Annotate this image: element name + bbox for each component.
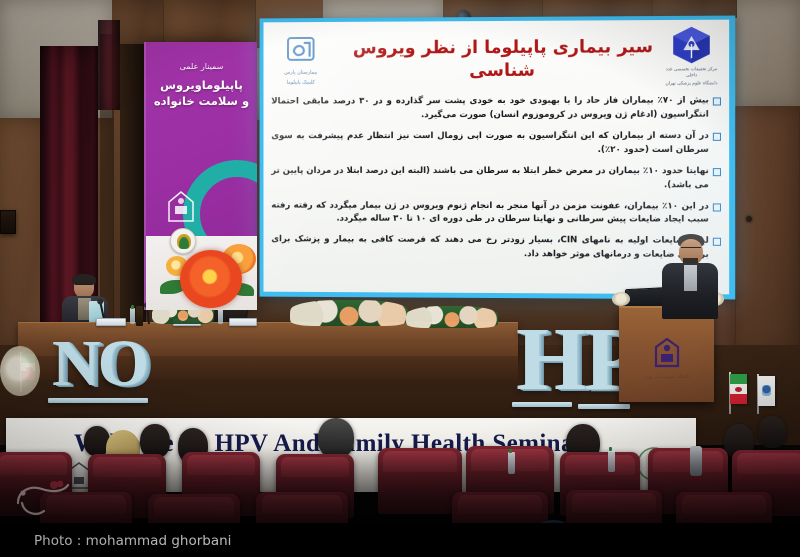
slide-logo-left: بیمارستان پارس کلینیک پاپیلوما (275, 34, 326, 87)
glasses-icon (75, 284, 93, 288)
thermos-flask (690, 446, 702, 476)
wall-recess (120, 44, 146, 344)
wall-fixture-dot (746, 216, 752, 222)
slide-bullet-text: در آن دسته از بیماران که این انتگراسیون … (271, 130, 708, 158)
nameplate (96, 318, 126, 326)
slide-bullet-text: بیش از ۷۰٪ بیماران فاز حاد را با بهبودی … (271, 94, 708, 123)
university-emblem-icon (166, 190, 196, 224)
seminar-purple-banner: سمینار علمی پاپیلوماویروس و سلامت خانواد… (144, 42, 257, 310)
pars-hospital-logo-icon (286, 34, 315, 64)
slide-bullet-text: لیکن ضایعات اولیه به نامهای CIN، بسیار ز… (271, 234, 708, 264)
dark-bottle (136, 306, 143, 326)
slide-bullet: نهایتا حدود ۱۰٪ بیماران در معرض خطر ابتل… (271, 165, 721, 193)
audience-member-head (140, 424, 170, 458)
mehr-news-watermark-icon (14, 473, 72, 523)
photo-credit-bar: Photo : mohammad ghorbani (0, 523, 800, 557)
audience-member-head (758, 416, 786, 448)
slide-logo-left-caption1: بیمارستان پارس (275, 70, 326, 78)
slide-title: سیر بیماری پاپیلوما از نظر ویروس شناسی (338, 36, 668, 83)
photo-credit-text: Photo : mohammad ghorbani (34, 533, 231, 549)
slide-logo-right-caption1: مرکز تحقیقات تخصصی غدد داخلی (660, 67, 723, 80)
slide-bullet: بیش از ۷۰٪ بیماران فاز حاد را با بهبودی … (271, 94, 721, 123)
stage-flower-arrangement (406, 306, 498, 328)
wall-wood-panel (164, 0, 256, 42)
university-podium-emblem-icon (654, 338, 680, 368)
decorative-wreath (0, 346, 40, 396)
bullet-square-icon (713, 203, 721, 211)
podium-caption: دانشگاه علوم پزشکی تهران (619, 374, 714, 379)
banner-title-line2: و سلامت خانواده (146, 94, 257, 110)
wall-wood-panel (733, 106, 800, 356)
organization-flag (758, 376, 775, 406)
audience-chair (378, 448, 462, 514)
iran-flag (730, 374, 747, 404)
water-bottle (608, 450, 615, 472)
bullet-square-icon (713, 168, 721, 176)
speaker-shirt (684, 265, 697, 291)
bullet-square-icon (713, 97, 721, 105)
presentation-slide: بیمارستان پارس کلینیک پاپیلوما مرکز تحقی… (263, 20, 729, 295)
slide-logo-right: مرکز تحقیقات تخصصی غدد داخلی دانشگاه علو… (660, 24, 723, 88)
speaking-podium: دانشگاه علوم پزشکی تهران (619, 306, 714, 402)
stage-letters-no: NO (52, 336, 147, 391)
slide-bullet-text: در این ۱۰٪ بیماران، عفونت مزمن در آنها م… (271, 199, 708, 228)
circular-seal-icon (170, 228, 196, 254)
slide-bullet-list: بیش از ۷۰٪ بیماران فاز حاد را با بهبودی … (271, 94, 721, 270)
banner-title-line1: پاپیلوماویروس (146, 78, 257, 94)
slide-bullet: در آن دسته از بیماران که این انتگراسیون … (271, 130, 721, 158)
nameplate (229, 318, 257, 326)
glasses-icon (681, 247, 701, 251)
flower-decoration (180, 250, 242, 308)
letter-base (48, 398, 148, 403)
water-bottle (508, 452, 515, 474)
stage-curtain (98, 20, 120, 110)
slide-logo-left-caption2: کلینیک پاپیلوما (275, 79, 326, 87)
water-bottle (218, 308, 223, 324)
wall-stone-panel (735, 0, 800, 108)
conference-photo: سمینار علمی پاپیلوماویروس و سلامت خانواد… (0, 0, 800, 557)
wall-speaker (0, 210, 16, 234)
bullet-square-icon (713, 133, 721, 141)
letter-base (578, 404, 630, 409)
research-center-cube-logo-icon (669, 24, 714, 67)
water-bottle (130, 308, 135, 324)
letter-base (512, 402, 572, 407)
banner-kicker: سمینار علمی (146, 62, 257, 71)
slide-bullet: لیکن ضایعات اولیه به نامهای CIN، بسیار ز… (271, 234, 721, 264)
podium-flower-left (612, 292, 630, 306)
stage-flower-arrangement (290, 300, 408, 326)
slide-logo-right-caption2: دانشگاه علوم پزشکی تهران (660, 81, 723, 88)
slide-bullet: در این ۱۰٪ بیماران، عفونت مزمن در آنها م… (271, 199, 721, 228)
slide-bullet-text: نهایتا حدود ۱۰٪ بیماران در معرض خطر ابتل… (271, 165, 708, 193)
speaker-at-podium (662, 236, 718, 316)
audience-member-head (318, 418, 354, 458)
